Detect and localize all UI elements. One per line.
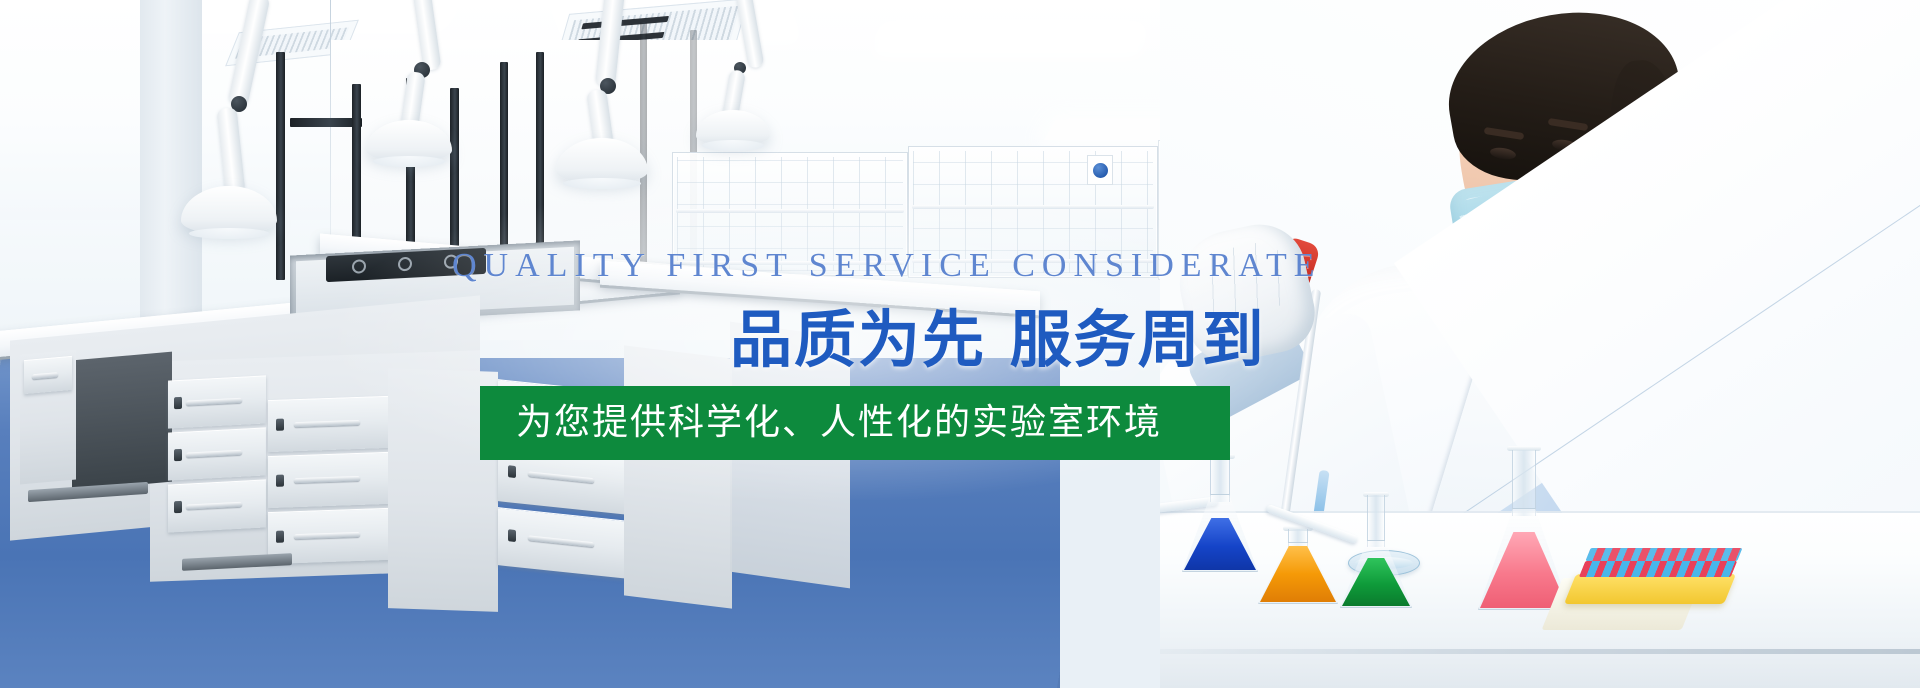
banner-copy: QUALITY FIRST SERVICE CONSIDERATE 品质为先 服… [0, 0, 1920, 688]
hero-banner: QUALITY FIRST SERVICE CONSIDERATE 品质为先 服… [0, 0, 1920, 688]
banner-subtitle-bar: 为您提供科学化、人性化的实验室环境 [480, 386, 1230, 460]
banner-subtitle-text: 为您提供科学化、人性化的实验室环境 [480, 405, 1162, 441]
banner-headline: 品质为先 服务周到 [730, 308, 1266, 371]
banner-eyebrow-text: QUALITY FIRST SERVICE CONSIDERATE [452, 249, 1322, 283]
